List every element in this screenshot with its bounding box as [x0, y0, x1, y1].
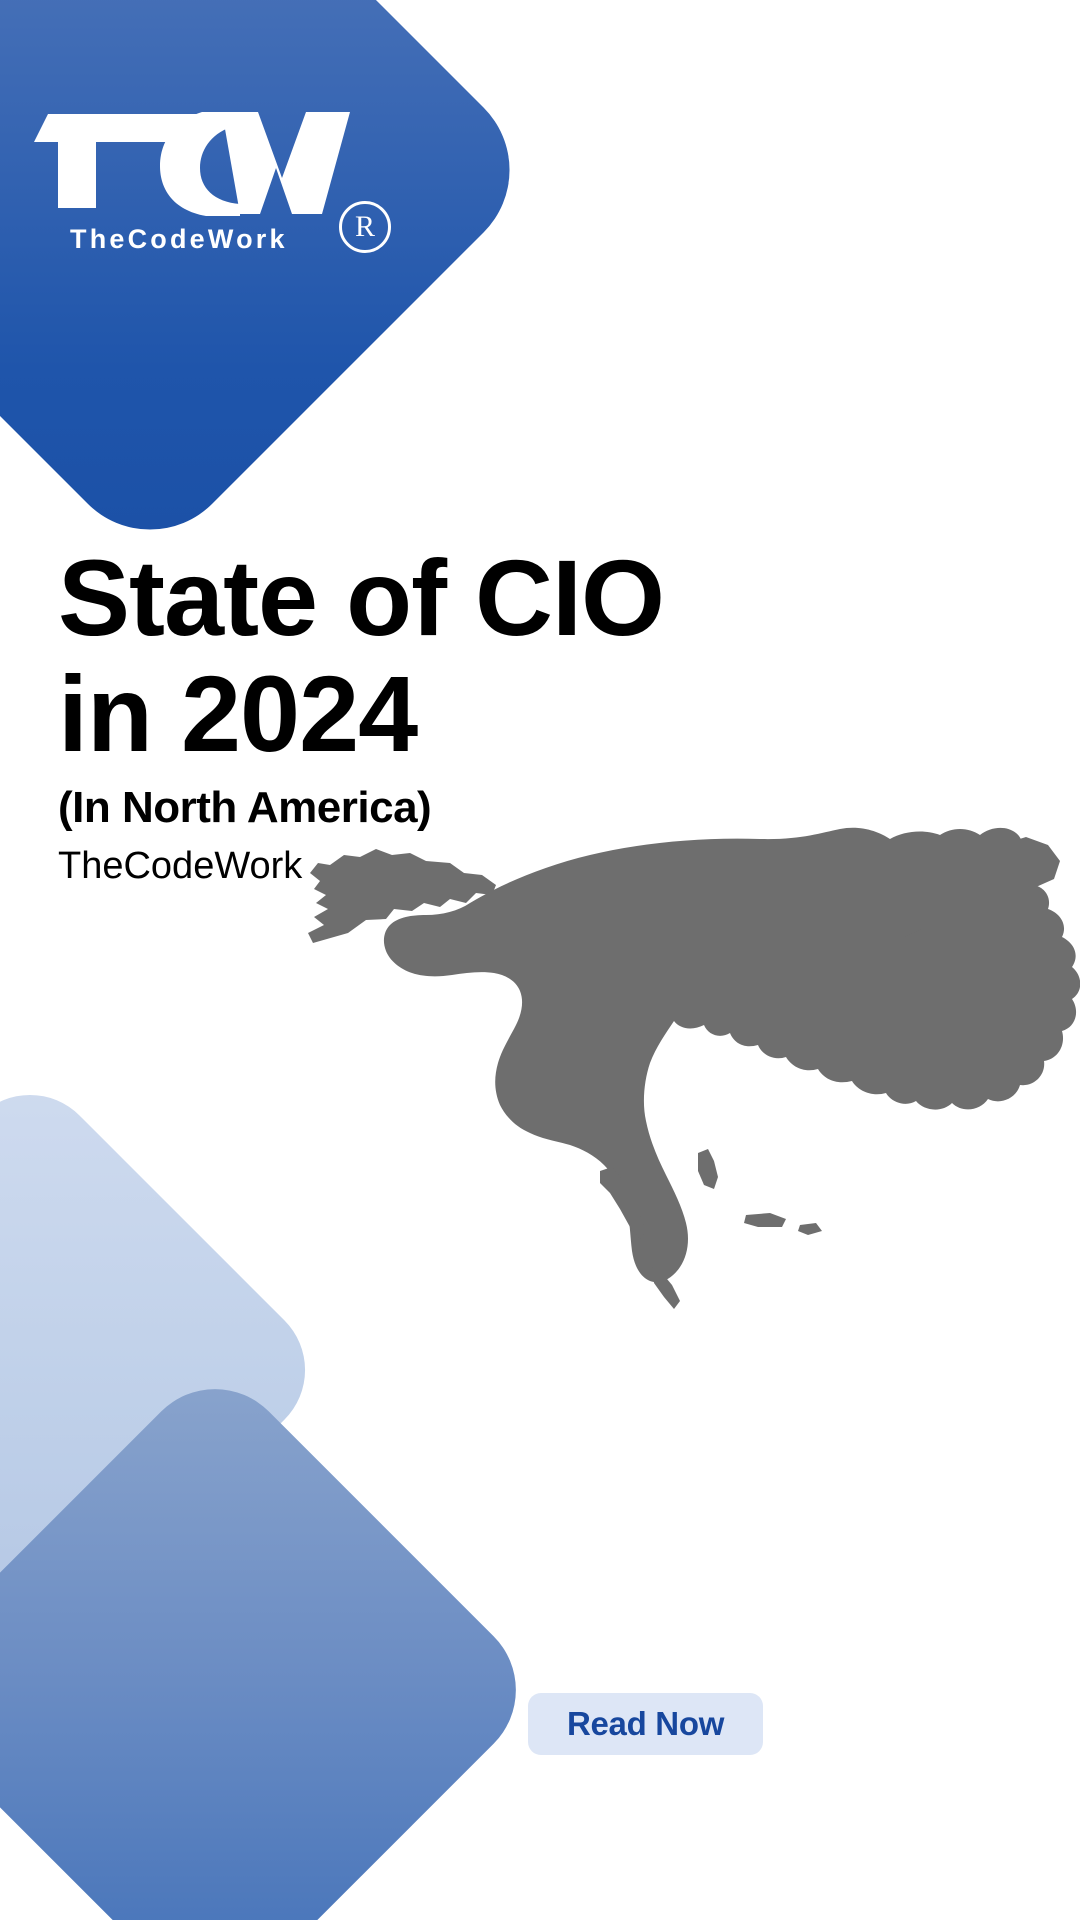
north-america-map-icon [300, 815, 1080, 1315]
brand-diamond-shape [0, 0, 546, 566]
brand-logo: R TheCodeWork [34, 96, 374, 255]
headline-block: State of CIO in 2024 (In North America) … [58, 540, 878, 888]
tcw-monogram-icon [34, 96, 350, 216]
page-title: State of CIO in 2024 [58, 540, 758, 771]
page-subtitle: (In North America) [58, 783, 878, 833]
poster-canvas: R TheCodeWork State of CIO in 2024 (In N… [0, 0, 1080, 1920]
registered-trademark-icon: R [339, 201, 391, 253]
logo-wordmark: TheCodeWork [70, 224, 374, 255]
read-now-button[interactable]: Read Now [528, 1693, 763, 1755]
page-byline: TheCodeWork [58, 845, 878, 888]
